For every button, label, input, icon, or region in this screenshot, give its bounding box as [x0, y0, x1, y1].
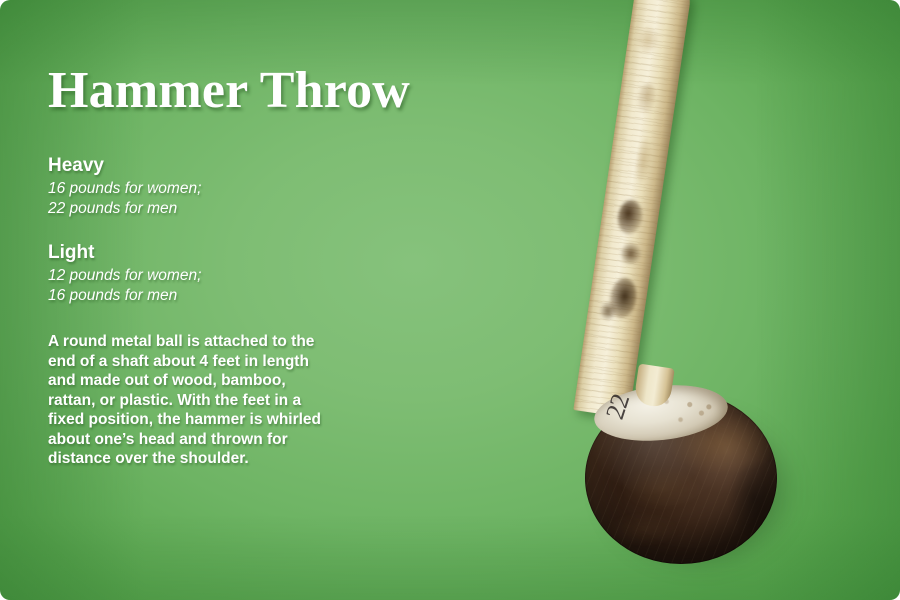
- shaft-blemish: [619, 241, 642, 266]
- light-weight-women: 12 pounds for women;: [48, 266, 378, 286]
- shaft-blemish: [633, 137, 654, 185]
- section-heading-heavy: Heavy: [48, 154, 378, 177]
- page-title: Hammer Throw: [48, 62, 378, 120]
- text-column: Hammer Throw Heavy 16 pounds for women; …: [48, 62, 378, 469]
- section-spacer: [48, 219, 378, 241]
- shaft-wood-surface: [573, 0, 691, 418]
- section-light: Light 12 pounds for women; 16 pounds for…: [48, 241, 378, 306]
- heavy-weight-women: 16 pounds for women;: [48, 179, 378, 199]
- shaft-blemish: [616, 199, 645, 236]
- section-heading-light: Light: [48, 241, 378, 264]
- description-paragraph: A round metal ball is attached to the en…: [48, 332, 334, 469]
- hammer-throw-poster: 22 Hammer Throw Heavy 16 pounds for wome…: [0, 0, 900, 600]
- shaft-blemish: [636, 82, 658, 114]
- hammer-shaft: [573, 0, 691, 418]
- section-heavy: Heavy 16 pounds for women; 22 pounds for…: [48, 154, 378, 219]
- light-weight-men: 16 pounds for men: [48, 286, 378, 306]
- shaft-blemish: [636, 26, 660, 55]
- heavy-weight-men: 22 pounds for men: [48, 199, 378, 219]
